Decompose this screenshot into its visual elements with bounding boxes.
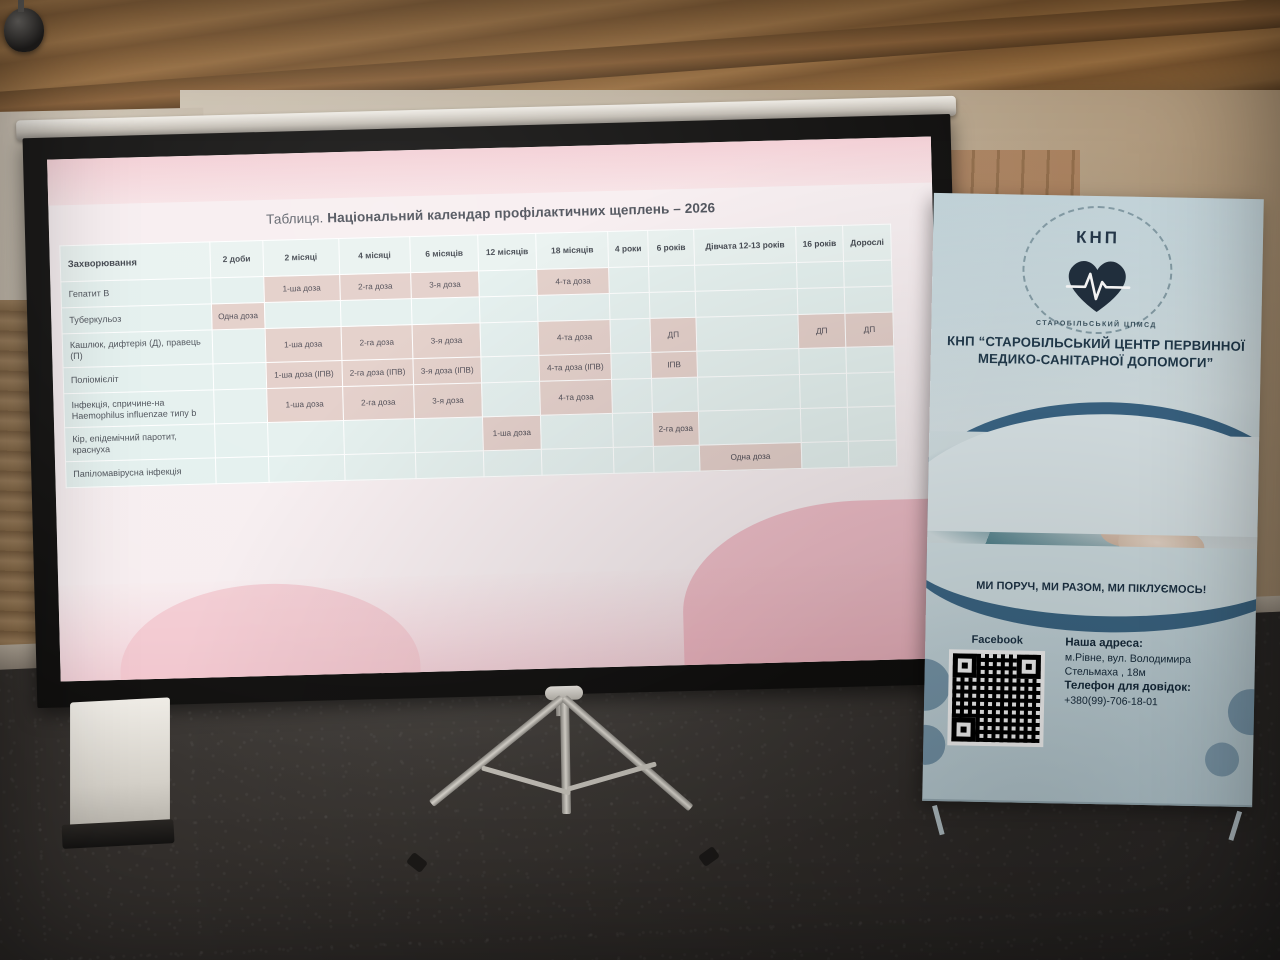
disease-name-cell: Кашлюк, дифтерія (Д), правець (П) <box>62 330 213 368</box>
dose-cell: 1-ша доза <box>265 327 342 363</box>
empty-cell <box>699 409 801 446</box>
slide-title-main: Національний календар профілактичних щеп… <box>327 200 715 225</box>
qr-code[interactable] <box>947 649 1045 747</box>
logo-knp-text: КНП <box>1023 227 1173 250</box>
dose-cell: Одна доза <box>699 443 801 472</box>
phone-number[interactable]: +380(99)-706-18-01 <box>1064 693 1244 711</box>
empty-cell <box>479 295 538 323</box>
empty-cell <box>648 265 695 292</box>
empty-cell <box>537 293 610 321</box>
dose-cell: 1-ша доза <box>263 275 339 303</box>
qr-code-pattern <box>951 653 1041 743</box>
empty-cell <box>411 297 480 325</box>
dose-cell: 2-га доза <box>339 273 411 301</box>
empty-cell <box>479 269 538 297</box>
empty-cell <box>698 375 800 412</box>
empty-cell <box>264 301 340 329</box>
empty-cell <box>613 412 653 447</box>
dose-cell: 4-та доза (ІПВ) <box>539 353 612 381</box>
table-column-header: 16 років <box>795 225 844 262</box>
dose-cell: Одна доза <box>211 303 264 330</box>
dose-cell: 4-та доза <box>538 319 611 355</box>
empty-cell <box>846 346 894 373</box>
empty-cell <box>844 260 892 287</box>
empty-cell <box>483 449 542 477</box>
logo-subtext: СТАРОБІЛЬСЬКИЙ ЦПМСД <box>1021 320 1171 330</box>
dose-cell: 3-я доза <box>414 383 483 419</box>
empty-cell <box>799 373 847 408</box>
dose-cell: 2-га доза (ІПВ) <box>341 359 413 387</box>
empty-cell <box>612 378 652 413</box>
room-scene: Таблиця. Національний календар профілакт… <box>0 0 1280 960</box>
empty-cell <box>844 286 892 313</box>
table-column-header: 12 місяців <box>478 233 537 271</box>
dose-cell: 1-ша доза <box>266 386 343 422</box>
empty-cell <box>695 289 797 318</box>
dose-cell: 3-я доза <box>411 271 480 299</box>
empty-cell <box>268 454 344 482</box>
empty-cell <box>798 347 846 374</box>
empty-cell <box>414 417 483 453</box>
slide-title-prefix: Таблиця. <box>266 210 324 226</box>
dose-cell: 3-я доза <box>412 323 481 359</box>
table-column-header: 2 доби <box>210 241 264 278</box>
qr-eye-top-left <box>953 653 977 677</box>
dose-cell: 4-та доза <box>537 267 610 295</box>
disease-name-cell: Туберкульоз <box>61 304 212 334</box>
empty-cell <box>340 299 412 327</box>
empty-cell <box>695 263 797 292</box>
empty-cell <box>649 291 696 318</box>
table-column-header: 6 місяців <box>410 235 479 273</box>
empty-cell <box>344 453 416 481</box>
empty-cell <box>611 352 651 379</box>
empty-cell <box>651 377 698 412</box>
qr-eye-bottom-left <box>951 717 975 741</box>
empty-cell <box>267 420 344 456</box>
empty-cell <box>696 315 798 352</box>
presentation-slide: Таблиця. Національний календар профілакт… <box>47 136 944 681</box>
table-column-header: Дівчата 12-13 років <box>694 227 796 266</box>
table-column-header: 4 місяці <box>338 237 410 275</box>
table-column-header: 18 місяців <box>536 231 609 269</box>
dose-cell: ІПВ <box>651 351 698 378</box>
empty-cell <box>848 440 896 467</box>
table-column-header: 4 роки <box>608 230 648 267</box>
dose-cell: 1-ша доза (ІПВ) <box>266 360 342 388</box>
qr-eye-top-right <box>1017 655 1041 679</box>
projector-screen-assembly: Таблиця. Національний календар профілакт… <box>12 106 977 731</box>
empty-cell <box>480 321 539 357</box>
empty-cell <box>541 447 614 475</box>
empty-cell <box>847 372 896 407</box>
table-column-header: Захворювання <box>60 242 211 282</box>
empty-cell <box>482 381 541 417</box>
empty-cell <box>697 349 799 378</box>
slide-top-band <box>47 136 932 205</box>
empty-cell <box>610 292 650 319</box>
dose-cell: ДП <box>845 312 894 347</box>
screen-surface: Таблиця. Національний календар профілакт… <box>47 136 944 681</box>
dose-cell: 1-ша доза <box>482 415 541 451</box>
rollup-banner: КНП СТАРОБІЛЬСЬКИЙ ЦПМСД КНП “СТАРОБІЛЬС… <box>922 193 1264 807</box>
banner-title: КНП “СТАРОБІЛЬСЬКИЙ ЦЕНТР ПЕРВИННОЇ МЕДИ… <box>941 333 1252 373</box>
empty-cell <box>800 407 848 442</box>
heart-ecg-icon <box>1060 253 1133 321</box>
disease-name-cell: Гепатит В <box>61 278 212 308</box>
empty-cell <box>848 406 897 441</box>
disease-name-cell: Папіломавірусна інфекція <box>65 458 216 488</box>
table-column-header: Дорослі <box>843 224 892 261</box>
dose-cell: 3-я доза (ІПВ) <box>413 357 482 385</box>
empty-cell <box>211 277 264 304</box>
dose-cell: ДП <box>797 313 845 348</box>
dose-cell: ДП <box>650 317 697 352</box>
facebook-label: Facebook <box>941 633 1053 647</box>
empty-cell <box>415 451 484 479</box>
dose-cell: 2-га доза <box>341 325 413 361</box>
vaccination-schedule-table: Захворювання2 доби2 місяці4 місяці6 міся… <box>59 224 897 489</box>
empty-cell <box>343 419 415 455</box>
empty-cell <box>212 328 266 363</box>
empty-cell <box>653 445 700 472</box>
empty-cell <box>540 413 613 449</box>
facebook-block: Facebook <box>939 633 1053 747</box>
empty-cell <box>797 287 845 314</box>
table-column-header: 2 місяці <box>262 239 339 277</box>
disease-name-cell: Поліомієліт <box>63 364 214 394</box>
banner-contacts: Facebook Наша адреса: м.Рівне, вул. Воло… <box>939 633 1245 751</box>
empty-cell <box>801 441 849 468</box>
disease-name-cell: Інфекція, спричине-на Haemophilus influe… <box>64 390 215 428</box>
empty-cell <box>215 422 269 457</box>
empty-cell <box>215 456 268 483</box>
empty-cell <box>481 355 540 383</box>
banner-face: КНП СТАРОБІЛЬСЬКИЙ ЦПМСД КНП “СТАРОБІЛЬС… <box>922 193 1264 807</box>
dose-cell: 4-та доза <box>539 379 612 415</box>
dose-cell: 2-га доза <box>652 411 699 446</box>
empty-cell <box>213 362 266 389</box>
slide-decor-arc-right <box>680 497 944 681</box>
dose-cell: 2-га доза <box>342 385 414 421</box>
empty-cell <box>214 388 268 423</box>
clinic-logo: КНП СТАРОБІЛЬСЬКИЙ ЦПМСД <box>1021 205 1173 336</box>
ceiling-spotlight-icon <box>4 8 44 52</box>
empty-cell <box>796 261 844 288</box>
screen-frame: Таблиця. Національний календар профілакт… <box>23 114 966 708</box>
disease-name-cell: Кір, епідемічний паротит, краснуха <box>65 424 216 462</box>
empty-cell <box>610 318 650 353</box>
address-lines: м.Рівне, вул. Володимира Стельмаха , 18м <box>1065 650 1246 682</box>
table-body: Гепатит В1-ша доза2-га доза3-я доза4-та … <box>61 260 897 488</box>
empty-cell <box>609 266 649 293</box>
empty-cell <box>614 446 654 473</box>
table-column-header: 6 років <box>647 229 694 266</box>
address-block: Наша адреса: м.Рівне, вул. Володимира Ст… <box>1063 635 1245 750</box>
